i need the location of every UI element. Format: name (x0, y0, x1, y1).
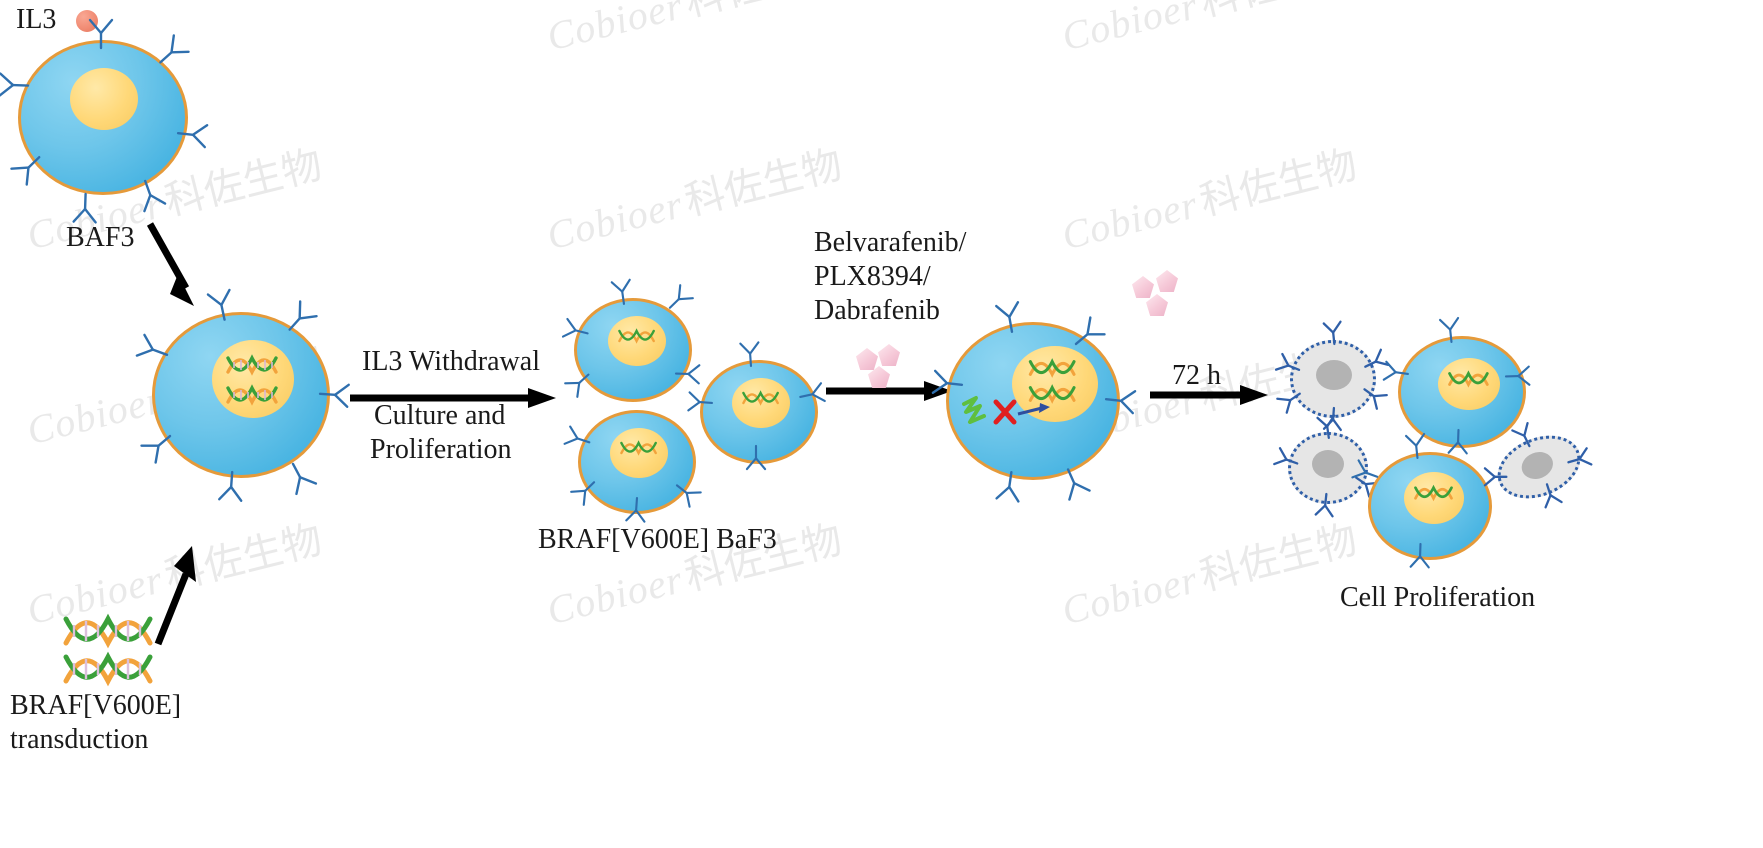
watermark: Cobioer 科佐生物 (1055, 132, 1362, 261)
receptor-icon (1401, 429, 1432, 460)
dead-cell-nucleus (1312, 450, 1344, 478)
drug-label-line2: PLX8394/ (814, 259, 931, 296)
receptor-icon (1319, 317, 1348, 346)
il3-label: IL3 (16, 2, 56, 39)
drug-molecule-icon (1132, 276, 1154, 298)
dna-icon (742, 390, 782, 406)
cell-nucleus (70, 68, 138, 130)
receptor-icon (1480, 464, 1506, 490)
brafv600e-baf3-cell (578, 410, 696, 514)
watermark: Cobioer 科佐生物 (540, 0, 847, 62)
dna-icon (62, 650, 166, 688)
apoptotic-cell (1290, 340, 1376, 418)
transduction-label-line2: transduction (10, 722, 148, 759)
dna-icon (618, 328, 658, 344)
dna-icon (1414, 484, 1456, 502)
receptor-icon (926, 364, 963, 401)
blocked-signal-indicator (960, 394, 1064, 436)
receptor-icon (742, 446, 770, 474)
watermark: Cobioer 科佐生物 (1055, 0, 1362, 62)
watermark: Cobioer 科佐生物 (1055, 507, 1362, 636)
receptor-icon (990, 470, 1028, 508)
arrow-baf3-to-transduced (140, 218, 210, 310)
baf3-label: BAF3 (66, 220, 134, 257)
step1-label-line3: Proliferation (370, 432, 512, 469)
drug-molecule-cluster (856, 344, 912, 396)
dna-icon (62, 612, 166, 650)
receptor-icon (213, 471, 249, 507)
transduction-label-line1: BRAF[V600E] (10, 688, 181, 725)
receptor-icon (1104, 382, 1141, 419)
receptor-icon (176, 116, 213, 153)
receptor-icon (201, 283, 241, 323)
dna-icon (1448, 370, 1492, 388)
arrow-72h (1148, 382, 1270, 408)
cell-nucleus (212, 340, 294, 418)
receptor-icon (989, 295, 1028, 334)
dead-cell-nucleus (1316, 360, 1352, 390)
receptor-icon (606, 274, 638, 306)
drug-label-line1: Belvarafenib/ (814, 225, 966, 262)
brafv600e-baf3-cell (574, 298, 692, 402)
receptor-icon (1506, 362, 1535, 391)
receptor-icon (1435, 313, 1466, 344)
dna-icon (226, 384, 282, 406)
receptor-icon (1378, 356, 1410, 388)
receptor-icon (1565, 443, 1597, 475)
receptor-icon (1311, 493, 1340, 522)
dna-icon (1028, 358, 1080, 378)
drug-molecule-icon (856, 348, 878, 370)
watermark: Cobioer 科佐生物 (540, 132, 847, 261)
dna-icon (620, 440, 660, 456)
baf3-parental-cell (18, 40, 188, 195)
transduced-cell (152, 312, 330, 478)
receptor-icon (1406, 544, 1435, 573)
brafv600e-baf3-label: BRAF[V600E] BaF3 (538, 522, 777, 559)
drug-label-line3: Dabrafenib (814, 293, 940, 330)
step1-label-line2: Culture and (374, 398, 505, 435)
drug-treated-cell (946, 322, 1120, 480)
drug-molecule-icon (878, 344, 900, 366)
receptor-icon (735, 337, 765, 367)
brafv600e-baf3-cell (700, 360, 818, 464)
step1-label-line1: IL3 Withdrawal (362, 344, 540, 381)
figure-canvas: Cobioer 科佐生物 Cobioer 科佐生物 Cobioer 科佐生物 C… (0, 0, 1763, 848)
drug-molecule-icon (1156, 270, 1178, 292)
receptor-icon (1312, 410, 1341, 439)
dna-icon (226, 354, 282, 376)
drug-molecule-cluster (1132, 270, 1188, 322)
outcome-label: Cell Proliferation (1340, 580, 1535, 617)
proliferating-cell (1368, 452, 1492, 560)
receptor-icon (0, 67, 29, 102)
receptor-icon (84, 14, 118, 48)
